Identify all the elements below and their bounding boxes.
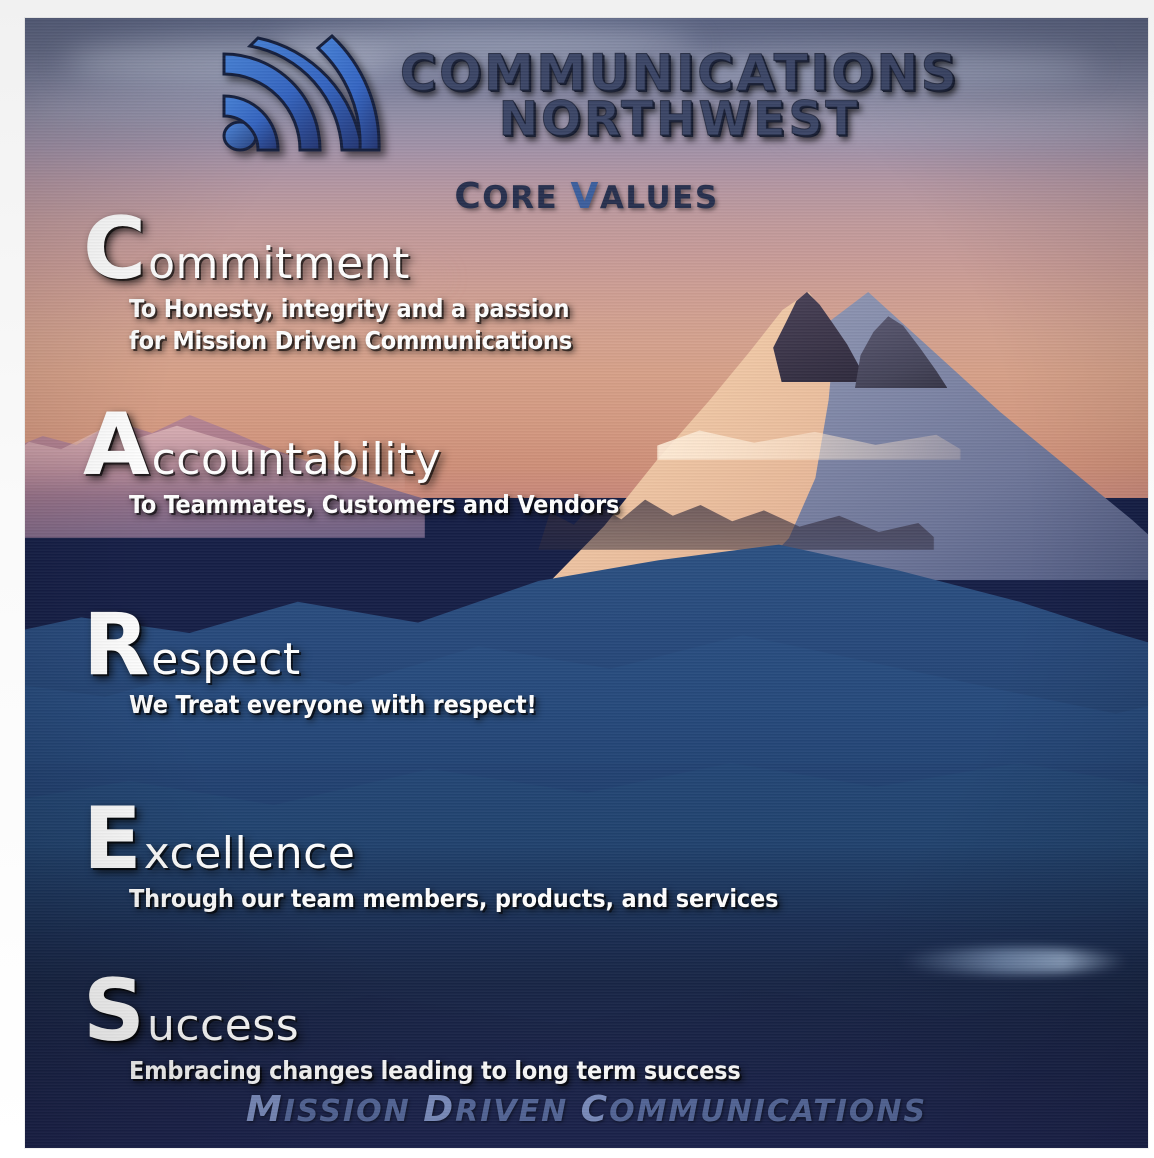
wordmark-line-2: NORTHWEST xyxy=(400,97,959,143)
value-headline: E xcellence xyxy=(83,804,778,879)
wifi-signal-icon xyxy=(214,32,382,156)
value-description: To Honesty, integrity and a passion for … xyxy=(129,293,572,357)
value-word-rest: ommitment xyxy=(148,238,410,289)
value-drop-cap: C xyxy=(83,214,146,285)
core-values-heading: CORE VALUES xyxy=(25,176,1148,217)
tagline-rest-ission: ISSION xyxy=(284,1094,411,1129)
value-description-line: To Teammates, Customers and Vendors xyxy=(129,489,619,521)
value-description-line: Embracing changes leading to long term s… xyxy=(129,1055,741,1087)
brand-wordmark: COMMUNICATIONS NORTHWEST xyxy=(400,49,959,143)
wordmark-line-1: COMMUNICATIONS xyxy=(400,49,959,98)
value-headline: R espect xyxy=(83,610,537,685)
value-headline: C ommitment xyxy=(83,214,572,289)
value-headline: A ccountability xyxy=(83,410,619,485)
value-word-rest: ccountability xyxy=(152,434,442,485)
value-block-excellence: E xcellence Through our team members, pr… xyxy=(83,804,778,915)
tagline-cap-m: M xyxy=(246,1089,284,1130)
heading-cap-v: V xyxy=(570,176,599,217)
value-description: We Treat everyone with respect! xyxy=(129,689,537,721)
footer-tagline: MISSION DRIVEN COMMUNICATIONS xyxy=(25,1089,1148,1130)
value-word-rest: xcellence xyxy=(144,828,356,879)
tagline-cap-c: C xyxy=(581,1089,609,1130)
value-block-respect: R espect We Treat everyone with respect! xyxy=(83,610,537,721)
value-block-success: S uccess Embracing changes leading to lo… xyxy=(83,976,741,1087)
value-description-line: To Honesty, integrity and a passion xyxy=(129,293,572,325)
value-word-rest: espect xyxy=(151,634,300,685)
value-headline: S uccess xyxy=(83,976,741,1051)
heading-rest-alues: ALUES xyxy=(600,180,719,216)
tagline-rest-riven: RIVEN xyxy=(455,1094,568,1129)
heading-cap-c: C xyxy=(454,176,482,217)
page-viewport: COMMUNICATIONS NORTHWEST CORE VALUES C o… xyxy=(0,0,1154,1158)
value-drop-cap: E xyxy=(83,804,142,875)
value-description: Embracing changes leading to long term s… xyxy=(129,1055,741,1087)
value-description-line: for Mission Driven Communications xyxy=(129,325,572,357)
value-description: Through our team members, products, and … xyxy=(129,883,778,915)
value-block-accountability: A ccountability To Teammates, Customers … xyxy=(83,410,619,521)
tagline-cap-d: D xyxy=(423,1089,455,1130)
heading-space xyxy=(558,180,570,216)
value-word-rest: uccess xyxy=(147,1000,299,1051)
value-drop-cap: S xyxy=(83,976,145,1047)
value-description-line: We Treat everyone with respect! xyxy=(129,689,537,721)
value-description-line: Through our team members, products, and … xyxy=(129,883,778,915)
value-description: To Teammates, Customers and Vendors xyxy=(129,489,619,521)
poster-content: COMMUNICATIONS NORTHWEST CORE VALUES C o… xyxy=(25,18,1148,1148)
value-block-commitment: C ommitment To Honesty, integrity and a … xyxy=(83,214,572,357)
brand-lockup: COMMUNICATIONS NORTHWEST xyxy=(25,32,1148,156)
tagline-rest-ommunications: OMMUNICATIONS xyxy=(609,1094,927,1129)
core-values-poster-image: COMMUNICATIONS NORTHWEST CORE VALUES C o… xyxy=(25,18,1148,1148)
heading-rest-ore: ORE xyxy=(482,180,558,216)
value-drop-cap: R xyxy=(83,610,149,681)
value-drop-cap: A xyxy=(83,410,150,481)
